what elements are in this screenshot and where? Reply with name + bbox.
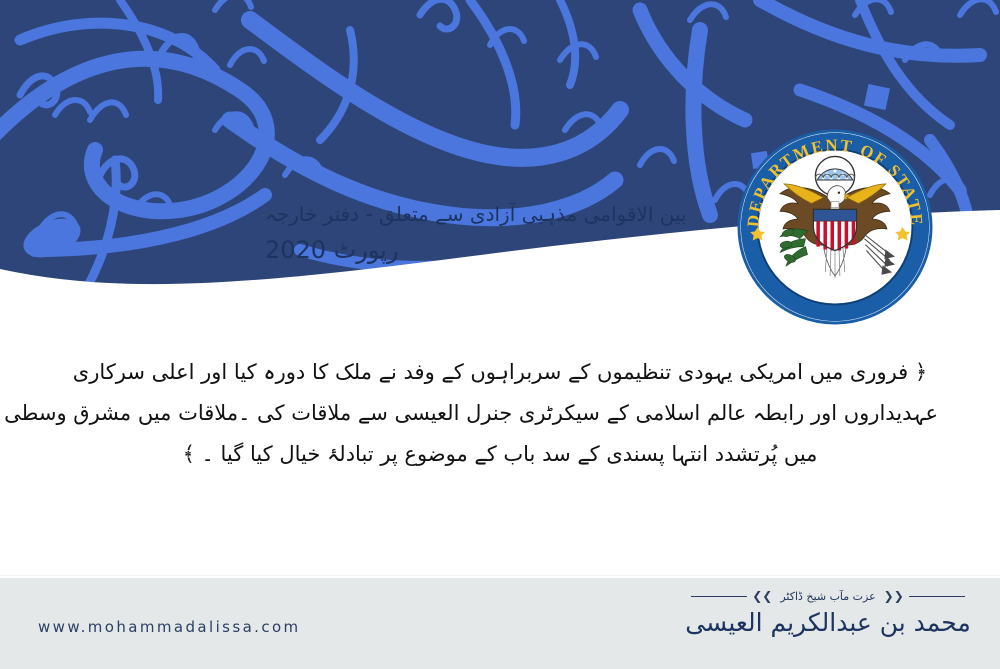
footer-divider (0, 575, 1000, 576)
state-seal-icon: DEPARTMENT OF STATE UNITED STATES OF AME… (737, 129, 933, 325)
footer-bar: www.mohammadalissa.com ❮❮ عزت مآب شیخ ڈا… (0, 578, 1000, 669)
signature-block: ❮❮ عزت مآب شیخ ڈاکٹر ❯❯ محمد بن عبدالکری… (678, 586, 978, 637)
ornament-right-icon: ❮❮ (884, 590, 904, 602)
quote-line-2: عہدیداروں اور رابطہ عالم اسلامی کے سیکرٹ… (62, 393, 938, 434)
signature-rule-right (909, 596, 965, 597)
quote-text: ﴿ فروری میں امریکی یہودی تنظیموں کے سربر… (62, 352, 938, 475)
report-title: بین الاقوامی مذہبی آزادی سے متعلق - دفتر… (265, 200, 725, 268)
report-title-line-1: بین الاقوامی مذہبی آزادی سے متعلق - دفتر… (265, 200, 725, 229)
signature-ornament-row: ❮❮ عزت مآب شیخ ڈاکٹر ❯❯ (678, 586, 978, 606)
signature-name: محمد بن عبدالکریم العیسی (678, 608, 978, 637)
us-department-of-state-seal: DEPARTMENT OF STATE UNITED STATES OF AME… (737, 129, 933, 325)
signature-honorific: عزت مآب شیخ ڈاکٹر (777, 590, 878, 603)
quote-line-1: ﴿ فروری میں امریکی یہودی تنظیموں کے سربر… (62, 352, 938, 393)
quote-line-3: میں پُرتشدد انتہا پسندی کے سد باب کے موض… (62, 434, 938, 475)
ornament-left-icon: ❯❯ (752, 590, 772, 602)
website-url-link[interactable]: www.mohammadalissa.com (38, 618, 301, 636)
signature-rule-left (691, 596, 747, 597)
report-quote-card: DEPARTMENT OF STATE UNITED STATES OF AME… (0, 0, 1000, 669)
report-title-line-2: رپورٹ 2020 (265, 233, 725, 268)
